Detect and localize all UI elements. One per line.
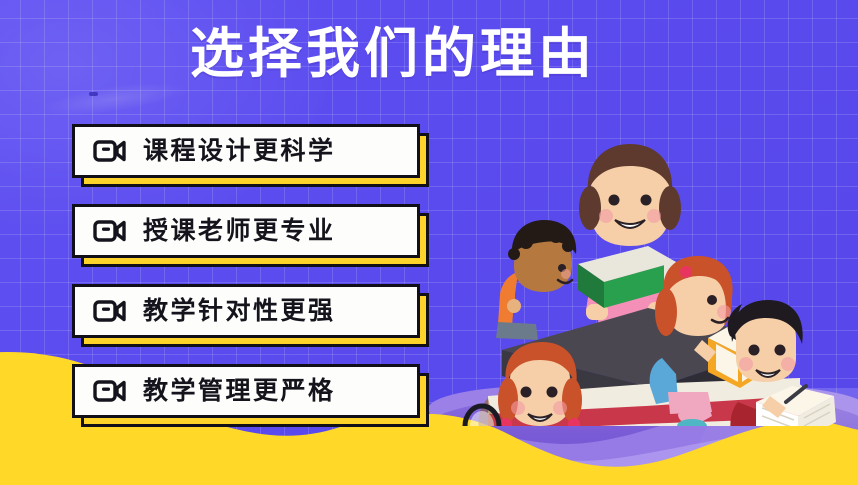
- feature-item-1[interactable]: 课程设计更科学: [72, 124, 432, 182]
- poster-canvas: 选择我们的理由 课程设计更科学 授课老师: [0, 0, 858, 485]
- character-boy-orange-shirt: [496, 220, 576, 340]
- feature-label: 教学针对性更强: [143, 298, 336, 324]
- background-speck: [89, 92, 98, 96]
- video-camera-icon: [93, 218, 127, 244]
- feature-card[interactable]: 授课老师更专业: [72, 204, 420, 258]
- video-camera-icon: [93, 298, 127, 324]
- feature-card[interactable]: 课程设计更科学: [72, 124, 420, 178]
- video-camera-icon: [93, 378, 127, 404]
- feature-item-4[interactable]: 教学管理更严格: [72, 364, 432, 422]
- feature-label: 教学管理更严格: [143, 378, 336, 404]
- feature-label: 授课老师更专业: [143, 218, 336, 244]
- children-on-books-illustration: [440, 96, 858, 426]
- feature-card[interactable]: 教学管理更严格: [72, 364, 420, 418]
- page-title: 选择我们的理由: [0, 22, 858, 86]
- page-title-text: 选择我们的理由: [190, 22, 596, 86]
- feature-card[interactable]: 教学针对性更强: [72, 284, 420, 338]
- feature-list: 课程设计更科学 授课老师更专业 教学: [72, 124, 432, 444]
- feature-item-3[interactable]: 教学针对性更强: [72, 284, 432, 342]
- feature-label: 课程设计更科学: [143, 138, 336, 164]
- feature-item-2[interactable]: 授课老师更专业: [72, 204, 432, 262]
- video-camera-icon: [93, 138, 127, 164]
- character-boy-red-sweater: [728, 300, 836, 426]
